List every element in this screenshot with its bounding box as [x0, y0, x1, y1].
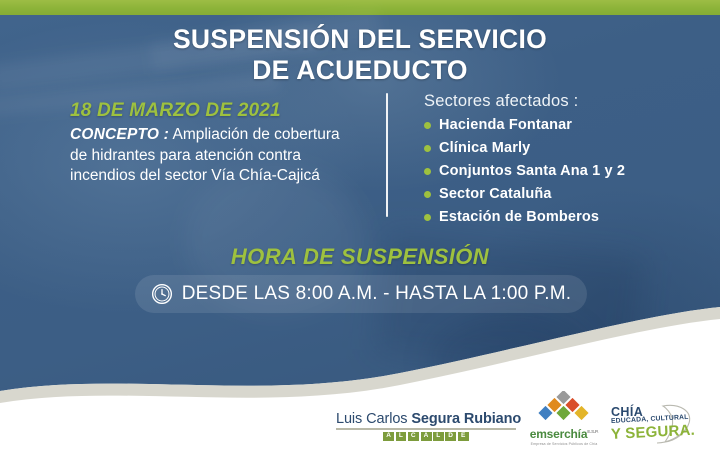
sector-label: Conjuntos Santa Ana 1 y 2	[439, 163, 625, 179]
title-line-2: DE ACUEDUCTO	[0, 55, 720, 86]
emserchia-tagline: Empresa de Servicios Públicos de Chía	[527, 442, 601, 446]
page-title: SUSPENSIÓN DEL SERVICIO DE ACUEDUCTO	[0, 24, 720, 85]
sectors-heading: Sectores afectados :	[424, 92, 694, 111]
column-divider	[386, 93, 388, 217]
time-range-text: DESDE LAS 8:00 A.M. - HASTA LA 1:00 P.M.	[182, 283, 572, 305]
logo-emserchia: emserchíaE.S.P. Empresa de Servicios Púb…	[527, 391, 601, 446]
emserchia-suffix: E.S.P.	[587, 429, 598, 434]
right-column: Sectores afectados : Hacienda Fontanar C…	[424, 92, 694, 232]
alcalde-name-light: Luis Carlos	[336, 411, 411, 427]
alcalde-rule	[336, 428, 516, 430]
alcalde-name: Luis Carlos Segura Rubiano	[336, 411, 516, 427]
emserchia-name: emserchíaE.S.P.	[527, 427, 601, 441]
logo-alcalde: Luis Carlos Segura Rubiano A L C A L D E	[336, 411, 516, 441]
role-letter: D	[445, 432, 456, 442]
list-item: Conjuntos Santa Ana 1 y 2	[424, 163, 694, 179]
list-item: Estación de Bomberos	[424, 209, 694, 225]
alcalde-role-bar: A L C A L D E	[336, 432, 516, 442]
list-item: Hacienda Fontanar	[424, 117, 694, 133]
bullet-dot-icon	[424, 214, 431, 221]
logo-chia: CHÍA EDUCADA, CULTURAL Y SEGURA.	[605, 403, 697, 445]
role-letter: C	[408, 432, 419, 442]
sector-label: Hacienda Fontanar	[439, 117, 572, 133]
emserchia-word: emserchía	[530, 427, 588, 441]
hour-heading: HORA DE SUSPENSIÓN	[0, 244, 720, 270]
bullet-dot-icon	[424, 122, 431, 129]
bullet-dot-icon	[424, 168, 431, 175]
title-line-1: SUSPENSIÓN DEL SERVICIO	[173, 24, 547, 54]
role-letter: A	[421, 432, 432, 442]
chia-stack: CHÍA EDUCADA, CULTURAL Y SEGURA.	[605, 403, 697, 445]
role-letter: A	[383, 432, 394, 442]
concept-block: CONCEPTO : Ampliación de cobertura de hi…	[70, 125, 360, 187]
role-letter: E	[458, 432, 469, 442]
list-item: Clínica Marly	[424, 140, 694, 156]
bullet-dot-icon	[424, 145, 431, 152]
bullet-dot-icon	[424, 191, 431, 198]
time-range-pill: DESDE LAS 8:00 A.M. - HASTA LA 1:00 P.M.	[135, 275, 587, 313]
role-letter: L	[396, 432, 406, 442]
emserchia-diamonds-icon	[527, 391, 601, 423]
footer: Luis Carlos Segura Rubiano A L C A L D E	[0, 393, 720, 455]
sector-label: Sector Cataluña	[439, 186, 552, 202]
role-letter: L	[433, 432, 443, 442]
concept-label: CONCEPTO :	[70, 126, 169, 143]
suspension-date: 18 DE MARZO DE 2021	[70, 100, 360, 122]
clock-icon	[151, 283, 173, 305]
sector-label: Estación de Bomberos	[439, 209, 599, 225]
alcalde-name-bold: Segura Rubiano	[411, 411, 521, 427]
poster: SUSPENSIÓN DEL SERVICIO DE ACUEDUCTO 18 …	[0, 0, 720, 455]
sector-label: Clínica Marly	[439, 140, 530, 156]
list-item: Sector Cataluña	[424, 186, 694, 202]
left-column: 18 DE MARZO DE 2021 CONCEPTO : Ampliació…	[70, 100, 360, 187]
